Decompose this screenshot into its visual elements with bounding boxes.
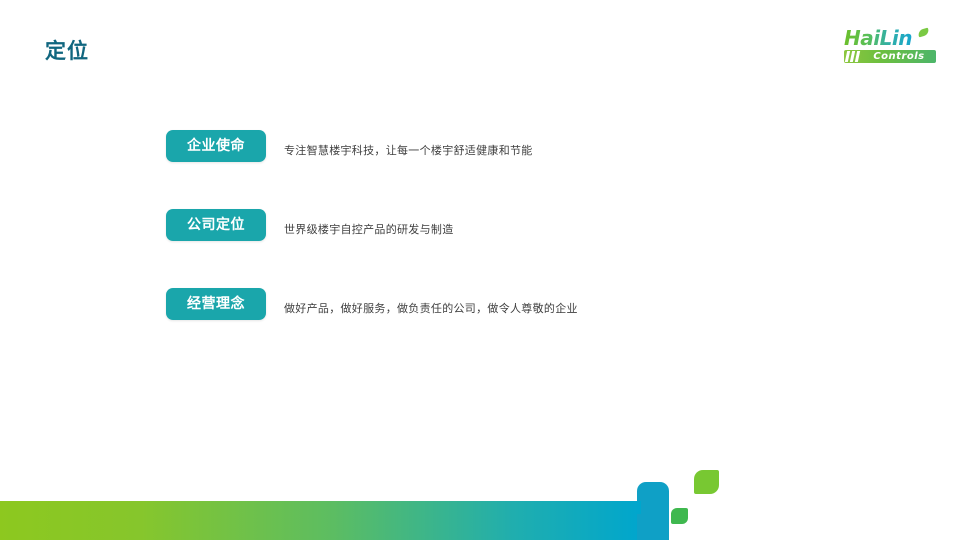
decoration-green-leaf-large bbox=[694, 470, 719, 494]
signal-bars-icon bbox=[846, 51, 860, 62]
row-description: 做好产品，做好服务，做负责任的公司，做令人尊敬的企业 bbox=[284, 301, 578, 317]
company-logo: HaiLin Controls bbox=[840, 28, 940, 70]
footer-gradient-bar bbox=[0, 501, 641, 540]
pill-label: 公司定位 bbox=[166, 209, 266, 241]
list-item: 经营理念 做好产品，做好服务，做负责任的公司，做令人尊敬的企业 bbox=[166, 288, 806, 367]
pill-label: 经营理念 bbox=[166, 288, 266, 320]
pill-label: 企业使命 bbox=[166, 130, 266, 162]
decoration-green-leaf-small bbox=[671, 508, 688, 524]
page-title: 定位 bbox=[45, 41, 89, 62]
content-rows: 企业使命 专注智慧楼宇科技，让每一个楼宇舒适健康和节能 公司定位 世界级楼宇自控… bbox=[166, 130, 806, 367]
logo-subtitle: Controls bbox=[864, 50, 934, 63]
list-item: 企业使命 专注智慧楼宇科技，让每一个楼宇舒适健康和节能 bbox=[166, 130, 806, 209]
logo-wordmark: HaiLin bbox=[844, 28, 912, 48]
row-description: 专注智慧楼宇科技，让每一个楼宇舒适健康和节能 bbox=[284, 143, 533, 159]
pill-business-philosophy[interactable]: 经营理念 bbox=[166, 288, 266, 320]
slide-canvas: 定位 HaiLin Controls 企业使命 专注智慧楼宇科技，让每一个楼宇舒… bbox=[0, 0, 960, 540]
pill-enterprise-mission[interactable]: 企业使命 bbox=[166, 130, 266, 162]
row-description: 世界级楼宇自控产品的研发与制造 bbox=[284, 222, 454, 238]
leaf-icon bbox=[917, 28, 930, 38]
decoration-blue-shape-foot bbox=[637, 514, 669, 540]
list-item: 公司定位 世界级楼宇自控产品的研发与制造 bbox=[166, 209, 806, 288]
pill-company-positioning[interactable]: 公司定位 bbox=[166, 209, 266, 241]
